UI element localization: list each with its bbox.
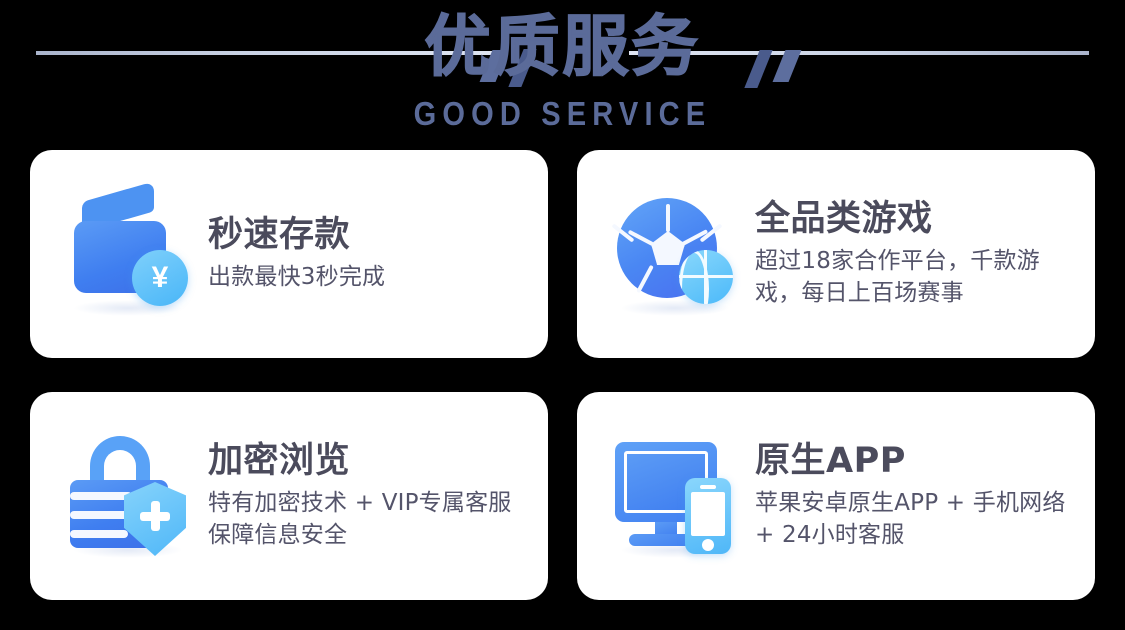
card-subtitle: 特有加密技术 + VIP专属客服保障信息安全 xyxy=(208,488,522,551)
soccer-seam xyxy=(666,204,670,232)
page-title: 优质服务 xyxy=(0,6,1125,88)
card-subtitle: 苹果安卓原生APP + 手机网络 + 24小时客服 xyxy=(755,488,1069,551)
wallet-yen-icon: ¥ xyxy=(62,188,194,320)
card-title: 加密浏览 xyxy=(208,441,522,481)
card-subtitle: 超过18家合作平台，千款游戏，每日上百场赛事 xyxy=(755,246,1069,309)
card-text-block: 原生APP 苹果安卓原生APP + 手机网络 + 24小时客服 xyxy=(755,441,1069,551)
card-title: 秒速存款 xyxy=(208,215,522,255)
feature-card-encryption[interactable]: 加密浏览 特有加密技术 + VIP专属客服保障信息安全 xyxy=(30,392,548,600)
basketball-icon xyxy=(679,250,733,304)
soccer-seam xyxy=(636,265,654,293)
card-title: 全品类游戏 xyxy=(755,199,1069,239)
basketball-seam xyxy=(679,275,733,278)
smartphone-icon xyxy=(685,478,731,554)
section-header: 优质服务 GOOD SERVICE xyxy=(0,0,1125,145)
phone-speaker xyxy=(700,485,716,489)
phone-home-button xyxy=(702,539,714,551)
monitor-phone-icon xyxy=(609,430,741,562)
promo-banner: 优质服务 GOOD SERVICE ¥ 秒速存款 出款最快3秒完成 xyxy=(0,0,1125,630)
lock-shield-icon xyxy=(62,430,194,562)
soccer-pentagon xyxy=(651,231,685,265)
card-text-block: 秒速存款 出款最快3秒完成 xyxy=(208,215,522,294)
feature-card-grid: ¥ 秒速存款 出款最快3秒完成 xyxy=(30,150,1095,600)
card-title: 原生APP xyxy=(755,441,1069,481)
phone-screen xyxy=(691,492,725,536)
lock-stripe xyxy=(70,492,132,500)
card-text-block: 加密浏览 特有加密技术 + VIP专属客服保障信息安全 xyxy=(208,441,522,551)
soccer-basketball-icon xyxy=(609,188,741,320)
feature-card-games[interactable]: 全品类游戏 超过18家合作平台，千款游戏，每日上百场赛事 xyxy=(577,150,1095,358)
lock-stripe xyxy=(70,530,128,538)
page-subtitle: GOOD SERVICE xyxy=(68,95,1058,133)
card-subtitle: 出款最快3秒完成 xyxy=(208,262,522,293)
feature-card-native-app[interactable]: 原生APP 苹果安卓原生APP + 手机网络 + 24小时客服 xyxy=(577,392,1095,600)
yen-coin-icon: ¥ xyxy=(132,250,188,306)
card-text-block: 全品类游戏 超过18家合作平台，千款游戏，每日上百场赛事 xyxy=(755,199,1069,309)
cross-icon xyxy=(140,501,170,531)
feature-card-deposit[interactable]: ¥ 秒速存款 出款最快3秒完成 xyxy=(30,150,548,358)
